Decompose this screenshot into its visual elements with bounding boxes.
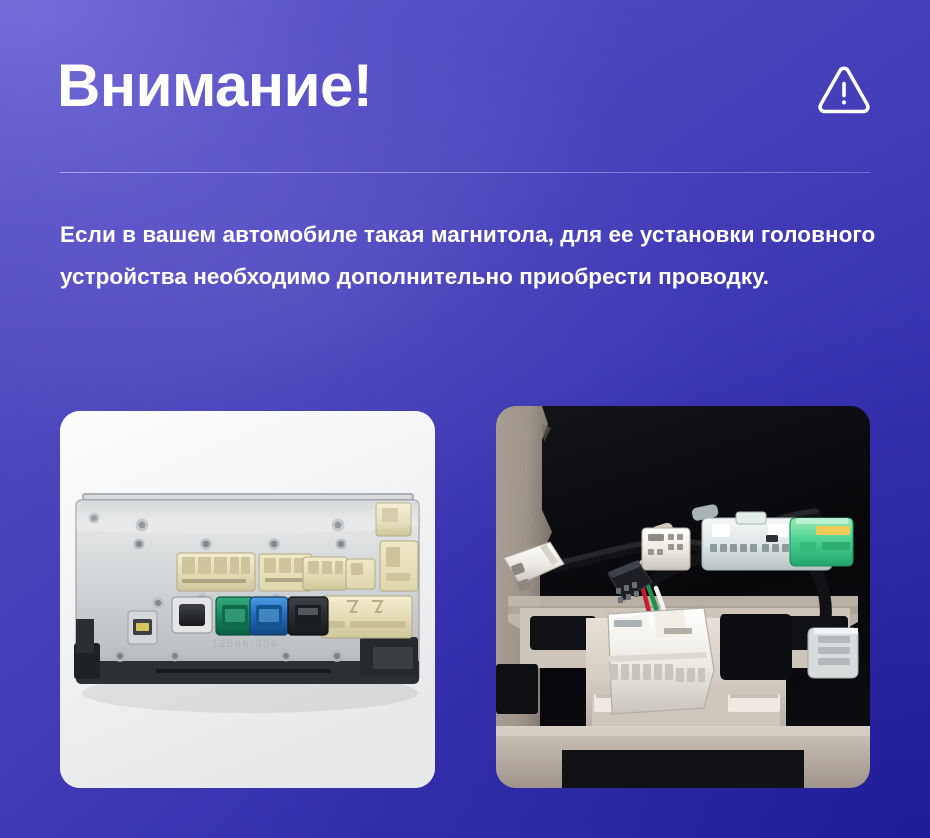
slide-header: Внимание! (0, 0, 930, 170)
dashboard-wiring-photo[interactable] (496, 406, 870, 788)
warning-slide: Внимание! Если в вашем автомобиле такая … (0, 0, 930, 838)
connector-green (790, 518, 853, 566)
svg-text:12566-356: 12566-356 (211, 638, 278, 650)
warning-body-text: Если в вашем автомобиле такая магнитола,… (60, 214, 878, 297)
connector-right-grey (808, 628, 858, 678)
connector-mid-white (642, 528, 690, 570)
header-divider (60, 172, 870, 173)
warning-triangle-icon (817, 64, 871, 118)
connector-foreground-white (608, 608, 714, 714)
page-title: Внимание! (57, 51, 372, 121)
head-unit-rear-photo[interactable]: 12566-356 (60, 411, 435, 788)
